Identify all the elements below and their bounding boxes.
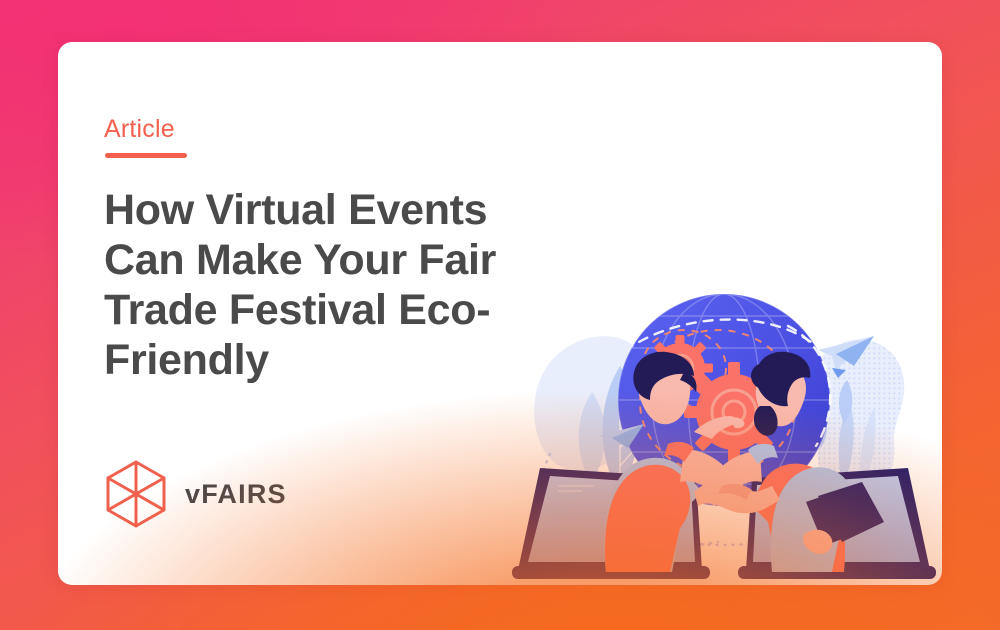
page-title: How Virtual Events Can Make Your Fair Tr…	[104, 186, 544, 386]
category-underline	[105, 153, 187, 158]
hero-illustration	[488, 272, 942, 585]
content-card: Article How Virtual Events Can Make Your…	[58, 42, 942, 585]
poster-canvas: Article How Virtual Events Can Make Your…	[0, 0, 1000, 630]
text-column: Article How Virtual Events Can Make Your…	[104, 117, 544, 386]
vfairs-logo[interactable]: vFAIRS	[105, 460, 287, 528]
category-label: Article	[104, 117, 544, 142]
logo-wordmark: vFAIRS	[185, 481, 287, 508]
hexagon-logo-icon	[105, 460, 167, 528]
